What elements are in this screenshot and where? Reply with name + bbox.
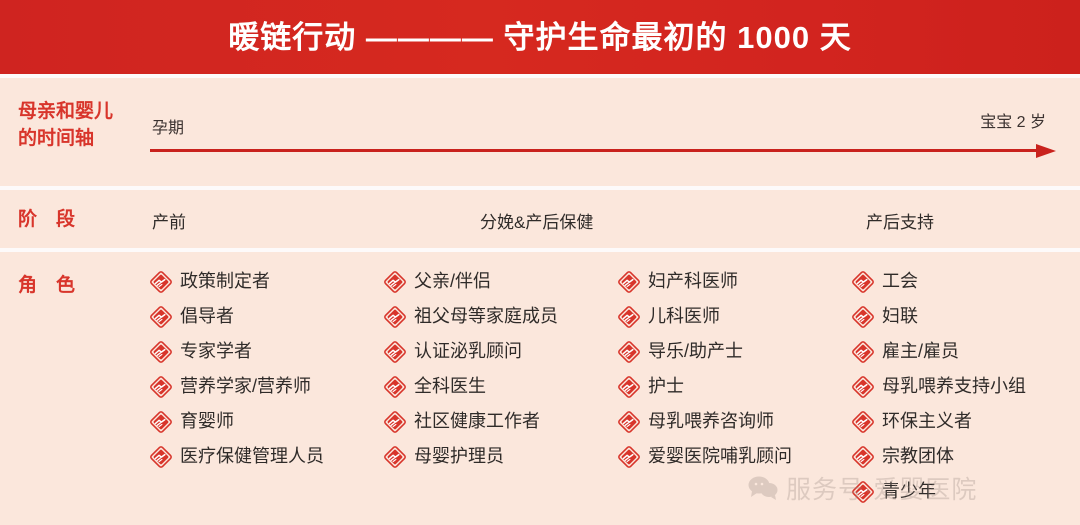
timeline-arrow — [150, 144, 1056, 158]
handshake-icon — [150, 341, 172, 363]
stage-item-postpartum-support: 产后支持 — [866, 208, 934, 233]
handshake-icon — [150, 376, 172, 398]
handshake-icon — [852, 411, 874, 433]
handshake-icon — [852, 271, 874, 293]
handshake-icon — [852, 481, 874, 503]
handshake-icon — [852, 446, 874, 468]
role-item: 父亲/伴侣 — [384, 268, 618, 303]
roles-column-2: 父亲/伴侣祖父母等家庭成员认证泌乳顾问全科医生社区健康工作者母婴护理员 — [384, 268, 618, 513]
role-item-label: 护士 — [648, 373, 684, 399]
role-item-label: 倡导者 — [180, 303, 234, 329]
timeline-end-label: 宝宝 2 岁 — [980, 108, 1046, 132]
role-item-label: 认证泌乳顾问 — [414, 338, 522, 364]
role-item-label: 祖父母等家庭成员 — [414, 303, 558, 329]
handshake-icon — [150, 446, 172, 468]
stage-item-delivery-postpartum: 分娩&产后保健 — [480, 208, 593, 233]
handshake-icon — [618, 376, 640, 398]
handshake-icon — [150, 411, 172, 433]
role-item: 社区健康工作者 — [384, 408, 618, 443]
roles-column-4: 工会妇联雇主/雇员母乳喂养支持小组环保主义者宗教团体青少年 — [852, 268, 1080, 513]
role-item-label: 专家学者 — [180, 338, 252, 364]
role-item-label: 政策制定者 — [180, 268, 270, 294]
role-item-label: 全科医生 — [414, 373, 486, 399]
role-item: 儿科医师 — [618, 303, 852, 338]
role-item: 认证泌乳顾问 — [384, 338, 618, 373]
page-title: 暖链行动 ———— 守护生命最初的 1000 天 — [228, 22, 851, 53]
handshake-icon — [384, 306, 406, 328]
role-item-label: 儿科医师 — [648, 303, 720, 329]
handshake-icon — [384, 341, 406, 363]
stage-item-list: 产前 分娩&产后保健 产后支持 — [0, 190, 1080, 248]
role-item: 全科医生 — [384, 373, 618, 408]
role-item-label: 医疗保健管理人员 — [180, 443, 324, 469]
handshake-icon — [384, 376, 406, 398]
role-item-label: 父亲/伴侣 — [414, 268, 491, 294]
role-item: 环保主义者 — [852, 408, 1080, 443]
role-item: 倡导者 — [150, 303, 384, 338]
role-item: 祖父母等家庭成员 — [384, 303, 618, 338]
poster-root: 暖链行动 ———— 守护生命最初的 1000 天 母亲和婴儿 的时间轴 孕期 宝… — [0, 0, 1080, 525]
role-item-label: 妇产科医师 — [648, 268, 738, 294]
handshake-icon — [618, 271, 640, 293]
role-item-label: 工会 — [882, 268, 918, 294]
role-item-label: 母婴护理员 — [414, 443, 504, 469]
roles-column-group: 政策制定者倡导者专家学者营养学家/营养师育婴师医疗保健管理人员父亲/伴侣祖父母等… — [150, 268, 1080, 513]
timeline-start-label: 孕期 — [152, 114, 184, 138]
role-item: 爱婴医院哺乳顾问 — [618, 443, 852, 478]
role-item-label: 社区健康工作者 — [414, 408, 540, 434]
stage-section: 阶 段 产前 分娩&产后保健 产后支持 — [0, 190, 1080, 248]
role-item-label: 青少年 — [882, 478, 936, 504]
handshake-icon — [384, 446, 406, 468]
handshake-icon — [618, 341, 640, 363]
handshake-icon — [852, 306, 874, 328]
stage-item-prenatal: 产前 — [152, 208, 186, 233]
role-item-label: 妇联 — [882, 303, 918, 329]
role-item-label: 环保主义者 — [882, 408, 972, 434]
role-item: 营养学家/营养师 — [150, 373, 384, 408]
role-item-label: 爱婴医院哺乳顾问 — [648, 443, 792, 469]
right-arrow-icon — [1036, 144, 1056, 158]
roles-section: 角 色 政策制定者倡导者专家学者营养学家/营养师育婴师医疗保健管理人员父亲/伴侣… — [0, 252, 1080, 525]
role-item: 雇主/雇员 — [852, 338, 1080, 373]
role-item-label: 母乳喂养支持小组 — [882, 373, 1026, 399]
role-item-label: 雇主/雇员 — [882, 338, 959, 364]
role-item-label: 宗教团体 — [882, 443, 954, 469]
handshake-icon — [150, 306, 172, 328]
role-item: 育婴师 — [150, 408, 384, 443]
handshake-icon — [384, 271, 406, 293]
handshake-icon — [852, 341, 874, 363]
handshake-icon — [618, 411, 640, 433]
role-item-label: 营养学家/营养师 — [180, 373, 311, 399]
handshake-icon — [618, 306, 640, 328]
role-item: 护士 — [618, 373, 852, 408]
header-banner: 暖链行动 ———— 守护生命最初的 1000 天 — [0, 0, 1080, 74]
handshake-icon — [618, 446, 640, 468]
role-item: 妇联 — [852, 303, 1080, 338]
role-item: 宗教团体 — [852, 443, 1080, 478]
role-item-label: 育婴师 — [180, 408, 234, 434]
role-item: 专家学者 — [150, 338, 384, 373]
role-item: 母乳喂养支持小组 — [852, 373, 1080, 408]
role-item: 妇产科医师 — [618, 268, 852, 303]
role-item: 母婴护理员 — [384, 443, 618, 478]
role-item-label: 导乐/助产士 — [648, 338, 743, 364]
handshake-icon — [150, 271, 172, 293]
roles-column-3: 妇产科医师儿科医师导乐/助产士护士母乳喂养咨询师爱婴医院哺乳顾问 — [618, 268, 852, 513]
role-item: 母乳喂养咨询师 — [618, 408, 852, 443]
roles-column-1: 政策制定者倡导者专家学者营养学家/营养师育婴师医疗保健管理人员 — [150, 268, 384, 513]
timeline-arrow-shaft — [150, 149, 1040, 152]
role-item: 医疗保健管理人员 — [150, 443, 384, 478]
role-item: 青少年 — [852, 478, 1080, 513]
roles-row-label: 角 色 — [18, 272, 75, 299]
role-item: 政策制定者 — [150, 268, 384, 303]
handshake-icon — [384, 411, 406, 433]
role-item: 导乐/助产士 — [618, 338, 852, 373]
role-item-label: 母乳喂养咨询师 — [648, 408, 774, 434]
timeline-row-label: 母亲和婴儿 的时间轴 — [18, 98, 148, 152]
handshake-icon — [852, 376, 874, 398]
role-item: 工会 — [852, 268, 1080, 303]
timeline-section: 母亲和婴儿 的时间轴 孕期 宝宝 2 岁 — [0, 78, 1080, 186]
